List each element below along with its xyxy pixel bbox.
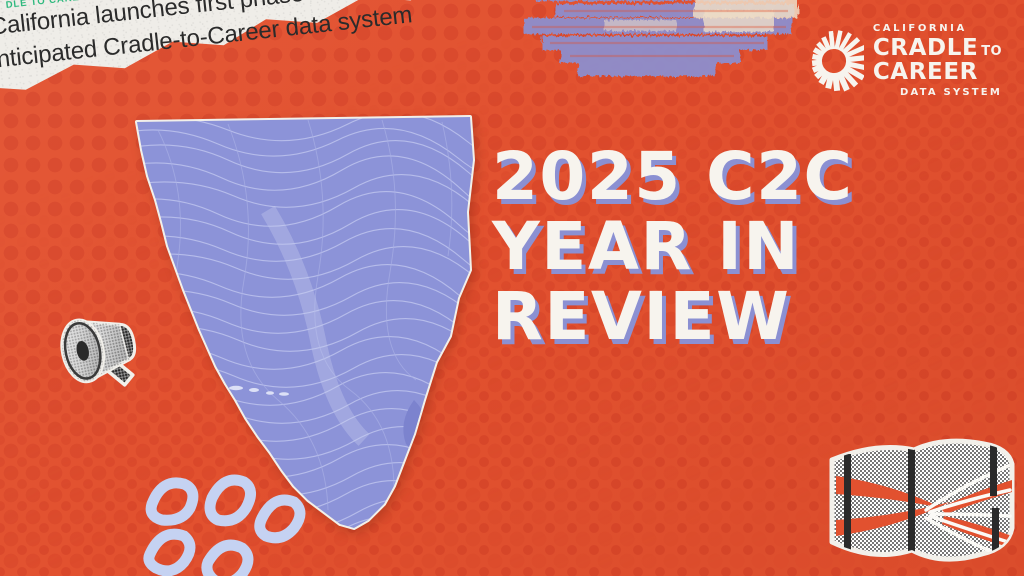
title-line-1: 2025 C2C bbox=[492, 146, 962, 208]
logo-line-california: CALIFORNIA bbox=[873, 24, 1002, 34]
c2c-logo: CALIFORNIA CRADLE TO CAREER DATA SYSTEM bbox=[806, 24, 1002, 98]
logo-cradle-text: CRADLE bbox=[873, 37, 978, 60]
blue-teardrop-doodles bbox=[140, 462, 330, 576]
logo-to-text: TO bbox=[981, 45, 1002, 58]
title-line-3: REVIEW bbox=[492, 286, 962, 348]
data-flow-hand-graphic bbox=[822, 424, 1022, 574]
year-in-review-graphic: DLE TO CAREER DATA SYS California launch… bbox=[0, 0, 1024, 576]
logo-line-data-system: DATA SYSTEM bbox=[873, 88, 1002, 98]
purple-brush-scribble bbox=[508, 0, 828, 88]
page-title: 2025 C2C YEAR IN REVIEW bbox=[492, 146, 962, 348]
logo-wordmark: CALIFORNIA CRADLE TO CAREER DATA SYSTEM bbox=[873, 24, 1002, 98]
logo-line-cradle-to: CRADLE TO bbox=[873, 37, 1002, 60]
sunburst-spiral-icon bbox=[806, 26, 864, 96]
title-line-2: YEAR IN bbox=[492, 216, 962, 278]
logo-line-career: CAREER bbox=[873, 61, 1002, 84]
megaphone-icon bbox=[34, 292, 158, 400]
